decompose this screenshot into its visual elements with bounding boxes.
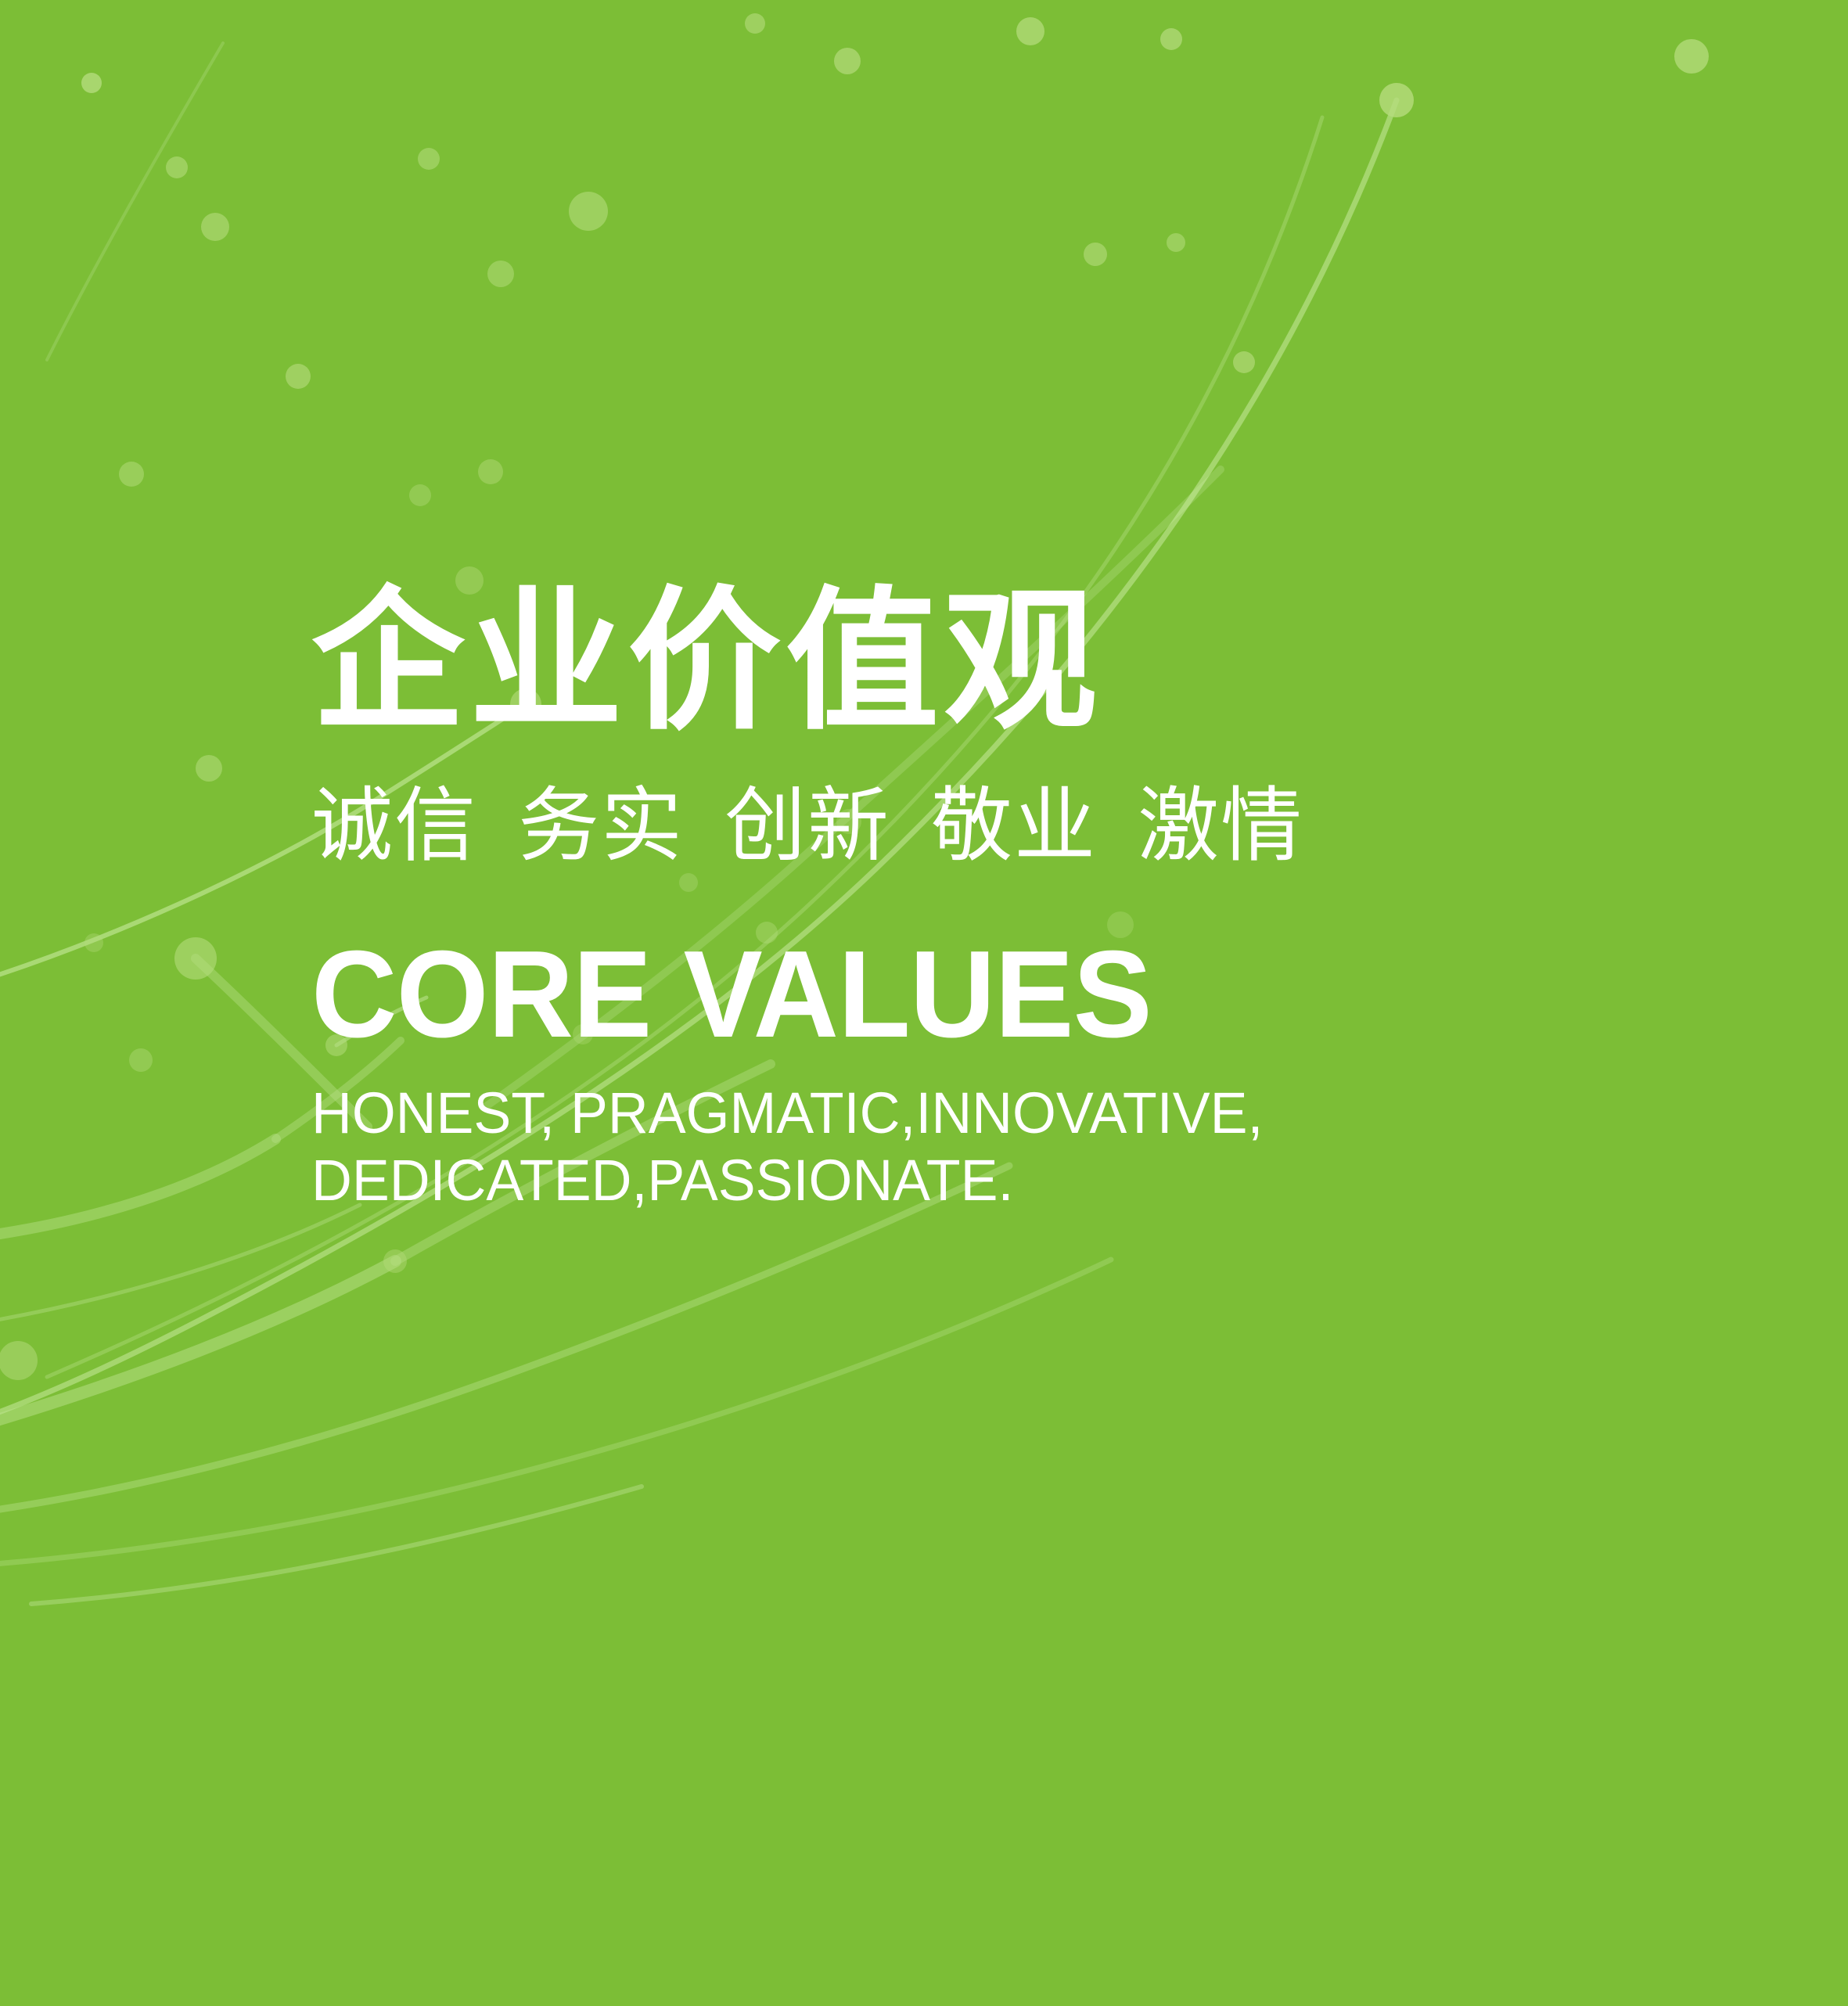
node-dot (409, 484, 431, 506)
node-dot (1016, 17, 1044, 45)
node-dot (129, 1048, 153, 1072)
node-dot (286, 364, 311, 389)
node-dot (174, 937, 217, 980)
node-dot (81, 73, 102, 93)
chinese-value-5: 激情 (1138, 781, 1303, 872)
node-dot (201, 213, 229, 241)
node-dot (834, 48, 861, 74)
chinese-title: 企业价值观 (311, 581, 1704, 743)
english-values-block: HONEST, PRAGMATIC,INNOVATIVE, DEDICATED,… (311, 1080, 1663, 1214)
node-dot (1233, 351, 1255, 373)
node-dot (119, 462, 144, 487)
english-values-line-2: DEDICATED,PASSIONATE. (311, 1147, 1663, 1214)
node-dot (1379, 83, 1414, 117)
node-dot (0, 1341, 38, 1380)
node-dot (745, 13, 765, 34)
chinese-value-3: 创新 (724, 781, 890, 872)
node-dot (383, 1249, 407, 1273)
chinese-values-line: 诚信务实创新敬业激情 (311, 781, 1704, 872)
node-dot (1674, 39, 1709, 74)
headline-block: 企业价值观 诚信务实创新敬业激情 CORE VALUES HONEST, PRA… (311, 581, 1704, 1214)
node-dot (1167, 233, 1185, 252)
english-title: CORE VALUES (311, 933, 1648, 1056)
node-dot (1160, 28, 1182, 50)
core-values-poster: 企业价值观 诚信务实创新敬业激情 CORE VALUES HONEST, PRA… (0, 0, 1848, 2006)
node-dot (166, 156, 188, 178)
node-dot (478, 459, 503, 484)
chinese-value-4: 敬业 (931, 781, 1097, 872)
chinese-value-2: 务实 (518, 781, 684, 872)
node-dot (84, 933, 103, 952)
node-dot (569, 192, 608, 231)
node-dot (487, 261, 514, 287)
chinese-value-1: 诚信 (311, 781, 477, 872)
node-dot (196, 755, 222, 782)
node-dot (1084, 243, 1107, 266)
english-values-line-1: HONEST, PRAGMATIC,INNOVATIVE, (311, 1080, 1663, 1147)
node-dot (418, 148, 440, 170)
